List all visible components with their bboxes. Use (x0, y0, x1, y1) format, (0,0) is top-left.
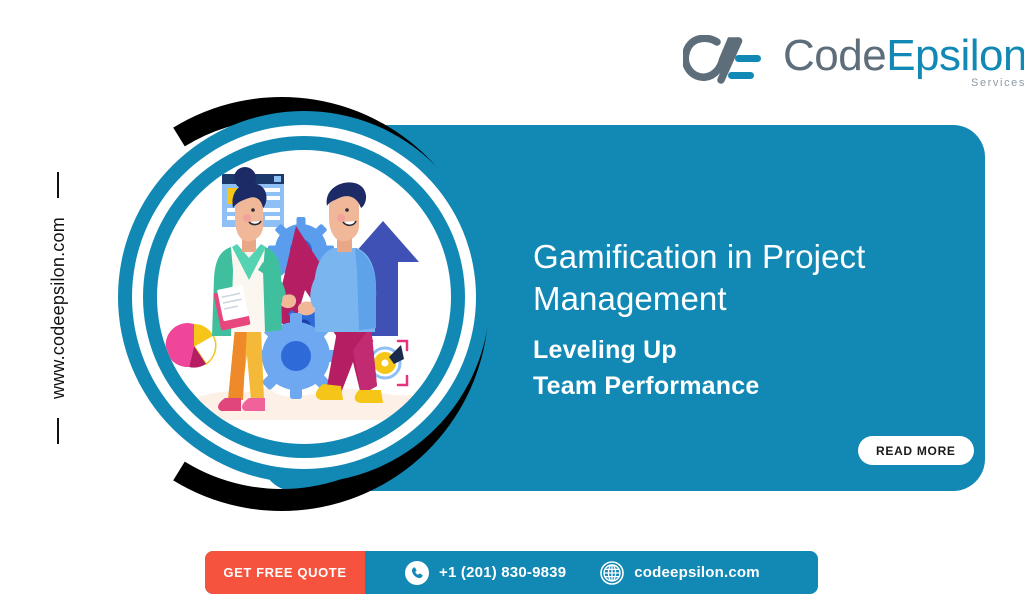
vertical-website-text: www.codeepsilon.com (48, 198, 69, 418)
hero-title-line-2: Management (533, 278, 953, 320)
brand-tagline: Services (971, 77, 1024, 89)
hero-subtitle: Leveling Up Team Performance (533, 332, 953, 404)
hero-subtitle-line-1: Leveling Up (533, 332, 953, 368)
contact-bar: GET FREE QUOTE +1 (201) 830-9839 codeeps… (205, 551, 818, 594)
brand-name-part-1: Code (783, 31, 886, 80)
divider-bottom (57, 418, 59, 444)
marketing-banner: CodeEpsilon Services www.codeepsilon.com (0, 0, 1024, 616)
phone-contact[interactable]: +1 (201) 830-9839 (405, 561, 566, 585)
brand-logo[interactable]: CodeEpsilon Services (683, 28, 998, 94)
phone-icon (405, 561, 429, 585)
pie-chart-icon (166, 323, 216, 368)
ce-monogram-icon (683, 35, 769, 87)
team-performance-illustration (157, 150, 451, 444)
website-contact[interactable]: codeepsilon.com (600, 561, 760, 585)
brand-wordmark: CodeEpsilon Services (783, 31, 1024, 91)
brand-name-part-2: Epsilon (886, 31, 1024, 80)
phone-number: +1 (201) 830-9839 (439, 564, 566, 581)
hero-subtitle-line-2: Team Performance (533, 368, 953, 404)
hair-bun (234, 167, 256, 189)
get-free-quote-button[interactable]: GET FREE QUOTE (205, 551, 365, 594)
vertical-website-strip: www.codeepsilon.com (38, 172, 78, 444)
website-url: codeepsilon.com (634, 564, 760, 581)
read-more-button[interactable]: READ MORE (858, 436, 974, 465)
illustration-circle (157, 150, 451, 444)
globe-icon (600, 561, 624, 585)
hero-title-line-1: Gamification in Project (533, 236, 953, 278)
hero-title: Gamification in Project Management (533, 236, 953, 320)
hero-headline: Gamification in Project Management Level… (533, 236, 953, 404)
divider-top (57, 172, 59, 198)
